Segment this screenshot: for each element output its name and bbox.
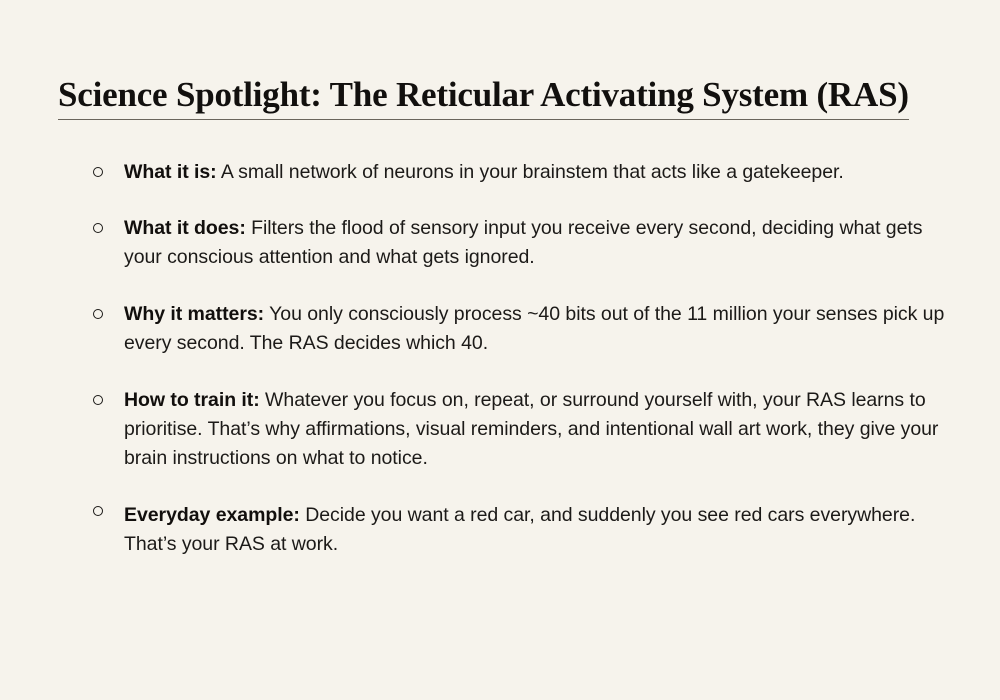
circle-bullet-icon (93, 506, 103, 516)
list-item: Why it matters: You only consciously pro… (90, 300, 950, 358)
circle-bullet-icon (93, 223, 103, 233)
list-item-label: Why it matters: (124, 303, 264, 325)
page-title: Science Spotlight: The Reticular Activat… (58, 76, 909, 120)
list-item-label: What it does: (124, 217, 246, 239)
slide-canvas: Science Spotlight: The Reticular Activat… (0, 0, 1000, 700)
list-item-label: Everyday example: (124, 504, 300, 526)
list-item-body: A small network of neurons in your brain… (217, 161, 844, 183)
circle-bullet-icon (93, 309, 103, 319)
list-item: Everyday example: Decide you want a red … (90, 501, 950, 559)
circle-bullet-icon (93, 167, 103, 177)
list-item: What it does: Filters the flood of senso… (90, 214, 950, 272)
list-item-label: What it is: (124, 161, 217, 183)
list-item: How to train it: Whatever you focus on, … (90, 386, 950, 473)
list-item: What it is: A small network of neurons i… (90, 158, 950, 187)
list-item-label: How to train it: (124, 389, 260, 411)
bullet-list: What it is: A small network of neurons i… (90, 158, 950, 559)
circle-bullet-icon (93, 395, 103, 405)
title-container: Science Spotlight: The Reticular Activat… (58, 76, 958, 120)
